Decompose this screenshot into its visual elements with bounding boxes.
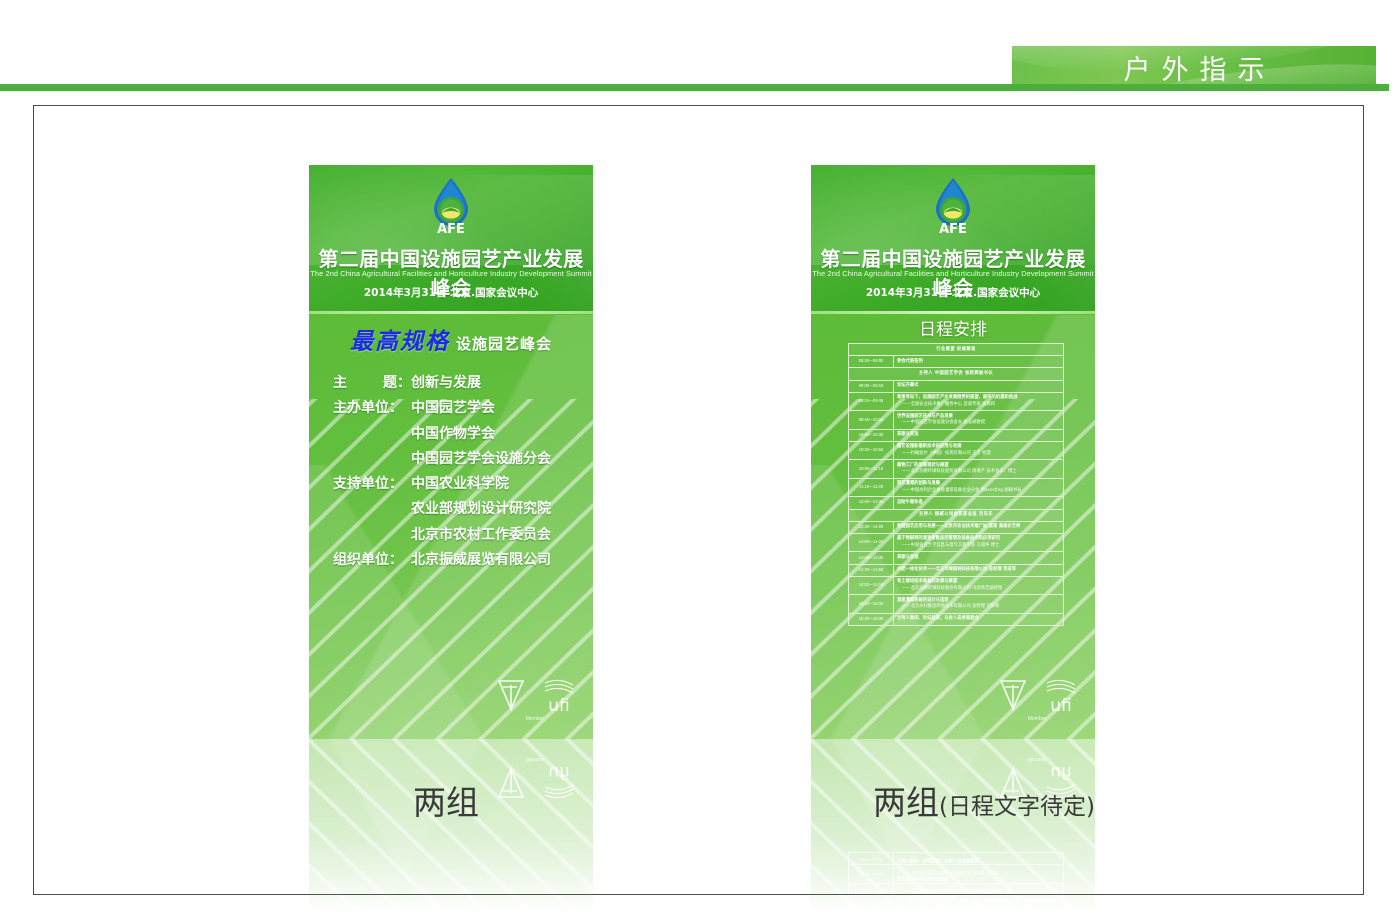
schedule-row: 08:20—09:00参会代表签到 [849,356,1063,368]
poster-header-left: AFE 第二届中国设施园艺产业发展峰会 The 2nd China Agricu… [309,165,593,311]
schedule-time: 09:15—09:45 [849,393,894,410]
schedule-time: 15:30—16:30 [849,614,894,625]
poster-title-en-right: The 2nd China Agricultural Facilities an… [811,269,1095,278]
schedule-description: 茶歇与交流 [894,552,1063,563]
svg-text:AFE: AFE [437,222,465,236]
schedule-description: 主持人 中国园艺学会 张跃辉秘书长 [849,368,1063,379]
poster-info-row: 组织单位：北京振威展览有限公司 [333,905,583,919]
schedule-row: 14:30—14:50水肥一体化技术——北方华绿园林科技有限公司 总经理 李成军 [849,565,1063,577]
schedule-description: 参会代表签到 [894,356,1063,367]
schedule-description: 水肥一体化技术——北方华绿园林科技有限公司 总经理 李成军 [894,902,1063,913]
schedule-speaker: ——中国农业大学信息与电气工程学院 马道坤 博士 [897,543,1060,549]
poster-left: AFE 第二届中国设施园艺产业发展峰会 The 2nd China Agricu… [309,739,593,919]
caption-right-note: (日程文字待定) [939,794,1095,820]
schedule-time: 15:30—16:30 [849,853,894,864]
schedule-speaker: ——北京京鹏环球科技股份有限公司 周增产 技术总工、博士 [897,469,1060,475]
schedule-time: 08:20—09:00 [849,356,894,367]
schedule-speaker: ——中国水利企业协会灌排设备企业分会 周averting 副秘书长 [897,488,1060,494]
schedule-row: 14:20—14:30茶歇与交流 [849,913,1063,919]
poster-info-row: 农业部规划设计研究院 [333,497,583,522]
schedule-row: 15:30—16:30主持人致闭、论坛结束，与会人员参观展会 [849,614,1063,626]
schedule-description: 自助午餐休息 [894,497,1063,508]
schedule-description: 植物工厂的发展现状与展望——北京京鹏环球科技股份有限公司 周增产 技术总工、博士 [894,460,1063,477]
poster-date-venue: 2014年3月31日 北京.国家会议中心 [309,285,593,300]
poster-info-label: 支持单位： [333,472,411,497]
schedule-description: 有土栽培技术装备的发展与展望——北京京鹏环球科技股份有限公司 内部商艺副经理 [894,577,1063,594]
schedule-table: 行业展望 权威解读08:20—09:00参会代表签到主持人 中国园艺学会 张跃辉… [848,852,1064,919]
svg-text:ufi: ufi [1050,696,1071,716]
poster-header-rule-right [811,311,1095,314]
schedule-time: 14:30—14:50 [849,902,894,913]
poster-left-reflection: AFE 第二届中国设施园艺产业发展峰会 The 2nd China Agricu… [309,739,593,919]
poster-info-label [333,422,411,447]
header-divider-rule [0,84,1389,91]
afe-logo-icon: AFE [428,176,474,236]
schedule-speaker: ——北京京鹏环球科技股份有限公司 内部商艺副经理 [897,886,1060,892]
poster-info-row: 支持单位：中国农业科学院 [333,472,583,497]
schedule-time: 14:50—15:10 [849,577,894,594]
zhenwei-logo-icon [491,675,531,721]
poster-header-right: AFE 第二届中国设施园艺产业发展峰会 The 2nd China Agricu… [811,165,1095,311]
schedule-speaker: ——北京水利集团环境技术有限公司 总经理 刘军辉 [897,868,1060,874]
poster-slogan: 最高规格设施园艺峰会 [309,322,593,356]
schedule-description: 政策导向下，设施园艺产业发展趋势的展望、面临的机遇和挑战——全国农业技术推广服务… [894,393,1063,410]
schedule-description: 家庭园艺应用与发展——北京市农业技术推广站 首席 高级农艺师 [894,522,1063,533]
schedule-row: 09:00—09:15论坛开幕式 [849,381,1063,393]
schedule-description: 茶歇与交流 [894,430,1063,441]
schedule-time: 10:15—10:30 [849,430,894,441]
poster-info-value: 北京振威展览有限公司 [411,548,583,573]
poster-info-label [333,523,411,548]
poster-right: AFE 第二届中国设施园艺产业发展峰会 The 2nd China Agricu… [811,165,1095,739]
caption-right: 两组(日程文字待定) [873,776,1095,824]
poster-info-row: 主办单位：中国园艺学会 [333,396,583,421]
ufi-member-label-right: Member [993,716,1081,722]
schedule-description: 园艺设施新最新技术的应用与发展——约翰迪尔（中国）投资有限公司 王吉 经理 [894,442,1063,459]
schedule-row: 14:50—15:10有土栽培技术装备的发展与展望——北京京鹏环球科技股份有限公… [849,577,1063,595]
schedule-row: 13:30—14:00家庭园艺应用与发展——北京市农业技术推广站 首席 高级农艺… [849,522,1063,534]
poster-right-reflection: AFE 第二届中国设施园艺产业发展峰会 The 2nd China Agricu… [811,739,1095,919]
schedule-time: 15:10—15:30 [849,865,894,882]
poster-info-row: 组织单位：北京振威展览有限公司 [333,548,583,573]
schedule-speaker: ——中国园艺学会设施分会会长 张志斌教授 [897,420,1060,426]
schedule-time: 14:50—15:10 [849,884,894,901]
schedule-row: 11:10—11:30园艺灌溉的创新与发展——中国水利企业协会灌排设备企业分会 … [849,479,1063,497]
schedule-row: 10:50—11:10植物工厂的发展现状与展望——北京京鹏环球科技股份有限公司 … [849,460,1063,478]
ufi-member-label-right: Member [993,756,1081,762]
caption-left: 两组 [413,776,479,824]
afe-logo-icon-right: AFE [930,176,976,236]
schedule-time: 10:30—10:50 [849,442,894,459]
zhenwei-logo-icon [491,757,531,803]
poster-info-value: 中国园艺学会设施分会 [411,447,583,472]
poster-info-label [333,447,411,472]
poster-header-rule [309,311,593,314]
schedule-time: 15:10—15:30 [849,595,894,612]
page-header-banner: 户外指示 [1012,46,1376,89]
schedule-time: 10:50—11:10 [849,460,894,477]
svg-text:ufi: ufi [548,762,569,782]
schedule-description: 有土栽培技术装备的发展与展望——北京京鹏环球科技股份有限公司 内部商艺副经理 [894,884,1063,901]
schedule-row: 09:45—10:15世界设施园艺技术与产品发展——中国园艺学会设施分会会长 张… [849,411,1063,429]
schedule-speaker: ——北京水利集团环境技术有限公司 总经理 刘军辉 [897,604,1060,610]
caption-right-main: 两组 [873,783,939,822]
schedule-table: 行业展望 权威解读08:20—09:00参会代表签到主持人 中国园艺学会 张跃辉… [848,343,1064,626]
schedule-row: 主持人 振威公司会议部总监 刘乐乐 [849,510,1063,522]
poster-info-row: 北京市农村工作委员会 [333,523,583,548]
content-sheet [33,105,1364,895]
poster-info-label: 主办单位： [333,396,411,421]
schedule-row: 15:10—15:30温室灌溉系统的设计与选型——北京水利集团环境技术有限公司 … [849,595,1063,613]
poster-info-value: 中国作物学会 [411,422,583,447]
poster-info-row: 中国作物学会 [333,422,583,447]
schedule-description: 园艺灌溉的创新与发展——中国水利企业协会灌排设备企业分会 周averting 副… [894,479,1063,496]
schedule-speaker: ——全国农业技术推广服务中心 首席专家 张真和 [897,402,1060,408]
poster-left: AFE 第二届中国设施园艺产业发展峰会 The 2nd China Agricu… [309,165,593,739]
poster-info-value: 北京市农村工作委员会 [411,523,583,548]
schedule-row: 14:20—14:30茶歇与交流 [849,552,1063,564]
schedule-row: 15:30—16:30主持人致闭、论坛结束，与会人员参观展会 [849,852,1063,864]
banner-title: 户外指示 [1012,46,1376,89]
schedule-row: 09:15—09:45政策导向下，设施园艺产业发展趋势的展望、面临的机遇和挑战—… [849,393,1063,411]
schedule-time: 14:30—14:50 [849,565,894,576]
poster-footer-logos: ufi Member [491,675,579,721]
poster-info-list: 主题：创新与发展主办单位：中国园艺学会中国作物学会中国园艺学会设施分会支持单位：… [333,905,583,919]
schedule-description: 主持人致闭、论坛结束，与会人员参观展会 [894,853,1063,864]
poster-right: AFE 第二届中国设施园艺产业发展峰会 The 2nd China Agricu… [811,739,1095,919]
schedule-description: 基于物联网的温室智能监控管理及装备技术和应用研究——中国农业大学信息与电气工程学… [894,534,1063,551]
schedule-title: 日程安排 [811,315,1095,340]
poster-info-value: 农业部规划设计研究院 [411,497,583,522]
schedule-time: 09:45—10:15 [849,411,894,428]
slogan-rest: 设施园艺峰会 [456,335,552,353]
schedule-row: 15:10—15:30温室灌溉系统的设计与选型——北京水利集团环境技术有限公司 … [849,864,1063,882]
schedule-row: 行业展望 权威解读 [849,344,1063,356]
schedule-row: 10:15—10:30茶歇与交流 [849,430,1063,442]
poster-info-value: 北京振威展览有限公司 [411,905,583,919]
svg-text:AFE: AFE [939,222,967,236]
poster-footer-logos: ufi Member [491,757,579,803]
schedule-description: 主持人 振威公司会议部总监 刘乐乐 [849,510,1063,521]
schedule-description: 主持人致闭、论坛结束，与会人员参观展会 [894,614,1063,625]
ufi-member-label: Member [491,756,579,762]
poster-info-label: 主题： [333,371,411,396]
schedule-description: 温室灌溉系统的设计与选型——北京水利集团环境技术有限公司 总经理 刘军辉 [894,865,1063,882]
ufi-logo-icon-right: ufi [1041,675,1081,721]
poster-info-value: 中国农业科学院 [411,472,583,497]
schedule-time: 13:30—14:00 [849,522,894,533]
poster-info-list: 主题：创新与发展主办单位：中国园艺学会中国作物学会中国园艺学会设施分会支持单位：… [333,371,583,573]
poster-footer-logos-right: ufi Member [993,675,1081,721]
ufi-logo-icon: ufi [539,675,579,721]
poster-title-en: The 2nd China Agricultural Facilities an… [309,269,593,278]
poster-info-label [333,497,411,522]
poster-info-label: 组织单位： [333,905,411,919]
slogan-highlight: 最高规格 [350,329,450,355]
schedule-time: 14:20—14:30 [849,914,894,919]
schedule-description: 温室灌溉系统的设计与选型——北京水利集团环境技术有限公司 总经理 刘军辉 [894,595,1063,612]
schedule-time: 12:00—13:30 [849,497,894,508]
schedule-row: 14:00—14:20基于物联网的温室智能监控管理及装备技术和应用研究——中国农… [849,534,1063,552]
poster-info-label: 组织单位： [333,548,411,573]
poster-info-row: 主题：创新与发展 [333,371,583,396]
schedule-description: 行业展望 权威解读 [849,344,1063,355]
poster-info-value: 中国园艺学会 [411,396,583,421]
poster-date-venue-right: 2014年3月31日 北京.国家会议中心 [811,285,1095,300]
schedule-description: 茶歇与交流 [894,914,1063,919]
schedule-description: 世界设施园艺技术与产品发展——中国园艺学会设施分会会长 张志斌教授 [894,411,1063,428]
schedule-description: 水肥一体化技术——北方华绿园林科技有限公司 总经理 李成军 [894,565,1063,576]
schedule-time: 09:00—09:15 [849,381,894,392]
poster-info-row: 中国园艺学会设施分会 [333,447,583,472]
schedule-time: 14:20—14:30 [849,552,894,563]
zhenwei-logo-icon-right [993,675,1033,721]
schedule-speaker: ——北京京鹏环球科技股份有限公司 内部商艺副经理 [897,586,1060,592]
schedule-row: 10:30—10:50园艺设施新最新技术的应用与发展——约翰迪尔（中国）投资有限… [849,442,1063,460]
schedule-row: 14:50—15:10有土栽培技术装备的发展与展望——北京京鹏环球科技股份有限公… [849,883,1063,901]
caption-left-main: 两组 [413,783,479,822]
svg-text:ufi: ufi [548,696,569,716]
ufi-logo-icon: ufi [539,757,579,803]
schedule-row: 14:30—14:50水肥一体化技术——北方华绿园林科技有限公司 总经理 李成军 [849,901,1063,913]
schedule-row: 主持人 中国园艺学会 张跃辉秘书长 [849,368,1063,380]
schedule-row: 12:00—13:30自助午餐休息 [849,497,1063,509]
schedule-speaker: ——约翰迪尔（中国）投资有限公司 王吉 经理 [897,451,1060,457]
ufi-member-label: Member [491,716,579,722]
schedule-description: 论坛开幕式 [894,381,1063,392]
schedule-time: 14:00—14:20 [849,534,894,551]
poster-info-value: 创新与发展 [411,371,583,396]
schedule-time: 11:10—11:30 [849,479,894,496]
